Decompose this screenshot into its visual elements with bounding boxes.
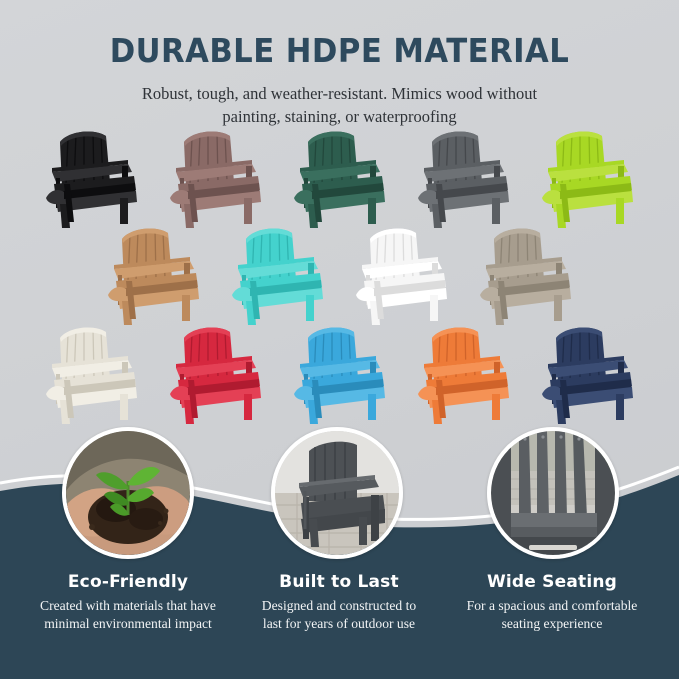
page-title: DURABLE HDPE MATERIAL <box>24 33 655 69</box>
feature-title: Wide Seating <box>437 572 667 592</box>
feature-image-wide-seating <box>487 427 619 559</box>
feature-description: Created with materials that have minimal… <box>13 597 243 633</box>
adirondack-chair-icon <box>532 126 644 230</box>
feature-caption-built-to-last: Built to Last Designed and constructed t… <box>224 572 454 633</box>
hands-holding-soil-with-seedling-icon <box>66 431 190 555</box>
feature-desc-line-2: seating experience <box>437 615 667 633</box>
chair-swatch-orange[interactable] <box>408 322 520 426</box>
feature-desc-line-1: Created with materials that have <box>13 597 243 615</box>
feature-title: Eco-Friendly <box>13 572 243 592</box>
chair-swatch-sky-blue[interactable] <box>284 322 396 426</box>
chair-swatch-black[interactable] <box>36 126 148 230</box>
feature-image-inner <box>275 431 399 555</box>
page-subtitle: Robust, tough, and weather-resistant. Mi… <box>0 82 679 129</box>
chair-swatch-lime-green[interactable] <box>532 126 644 230</box>
chair-swatch-ivory[interactable] <box>36 322 148 426</box>
adirondack-chair-icon <box>98 223 210 327</box>
feature-image-eco-friendly <box>62 427 194 559</box>
feature-desc-line-1: For a spacious and comfortable <box>437 597 667 615</box>
adirondack-chair-icon <box>160 322 272 426</box>
adirondack-chair-icon <box>470 223 582 327</box>
adirondack-chair-icon <box>284 126 396 230</box>
chair-swatch-navy[interactable] <box>532 322 644 426</box>
feature-caption-wide-seating: Wide Seating For a spacious and comforta… <box>437 572 667 633</box>
closeup-of-wide-chair-seat-and-slatted-back-icon <box>491 431 615 555</box>
feature-desc-line-2: last for years of outdoor use <box>224 615 454 633</box>
chair-swatch-turquoise[interactable] <box>222 223 334 327</box>
feature-image-inner <box>491 431 615 555</box>
chair-swatch-teak-tan[interactable] <box>98 223 210 327</box>
feature-description: For a spacious and comfortable seating e… <box>437 597 667 633</box>
chair-swatch-brown[interactable] <box>160 126 272 230</box>
chair-swatch-dark-green[interactable] <box>284 126 396 230</box>
infographic-canvas: DURABLE HDPE MATERIAL Robust, tough, and… <box>0 0 679 679</box>
adirondack-chair-icon <box>408 322 520 426</box>
adirondack-chair-icon <box>36 322 148 426</box>
feature-description: Designed and constructed to last for yea… <box>224 597 454 633</box>
chair-swatch-gray-beige[interactable] <box>470 223 582 327</box>
adirondack-chair-icon <box>346 223 458 327</box>
adirondack-chair-icon <box>222 223 334 327</box>
adirondack-chair-icon <box>160 126 272 230</box>
adirondack-chair-icon <box>408 126 520 230</box>
subtitle-line-1: Robust, tough, and weather-resistant. Mi… <box>0 82 679 105</box>
chair-swatch-dark-gray[interactable] <box>408 126 520 230</box>
feature-image-inner <box>66 431 190 555</box>
chair-row-3 <box>0 322 679 426</box>
feature-title: Built to Last <box>224 572 454 592</box>
adirondack-chair-icon <box>532 322 644 426</box>
adirondack-chair-icon <box>284 322 396 426</box>
gray-adirondack-chair-on-patio-icon <box>275 431 399 555</box>
adirondack-chair-icon <box>36 126 148 230</box>
feature-caption-eco-friendly: Eco-Friendly Created with materials that… <box>13 572 243 633</box>
chair-swatch-white[interactable] <box>346 223 458 327</box>
chair-row-2 <box>0 223 679 327</box>
chair-color-grid <box>0 126 679 436</box>
feature-desc-line-1: Designed and constructed to <box>224 597 454 615</box>
chair-row-1 <box>0 126 679 230</box>
feature-desc-line-2: minimal environmental impact <box>13 615 243 633</box>
chair-swatch-red[interactable] <box>160 322 272 426</box>
feature-image-built-to-last <box>271 427 403 559</box>
